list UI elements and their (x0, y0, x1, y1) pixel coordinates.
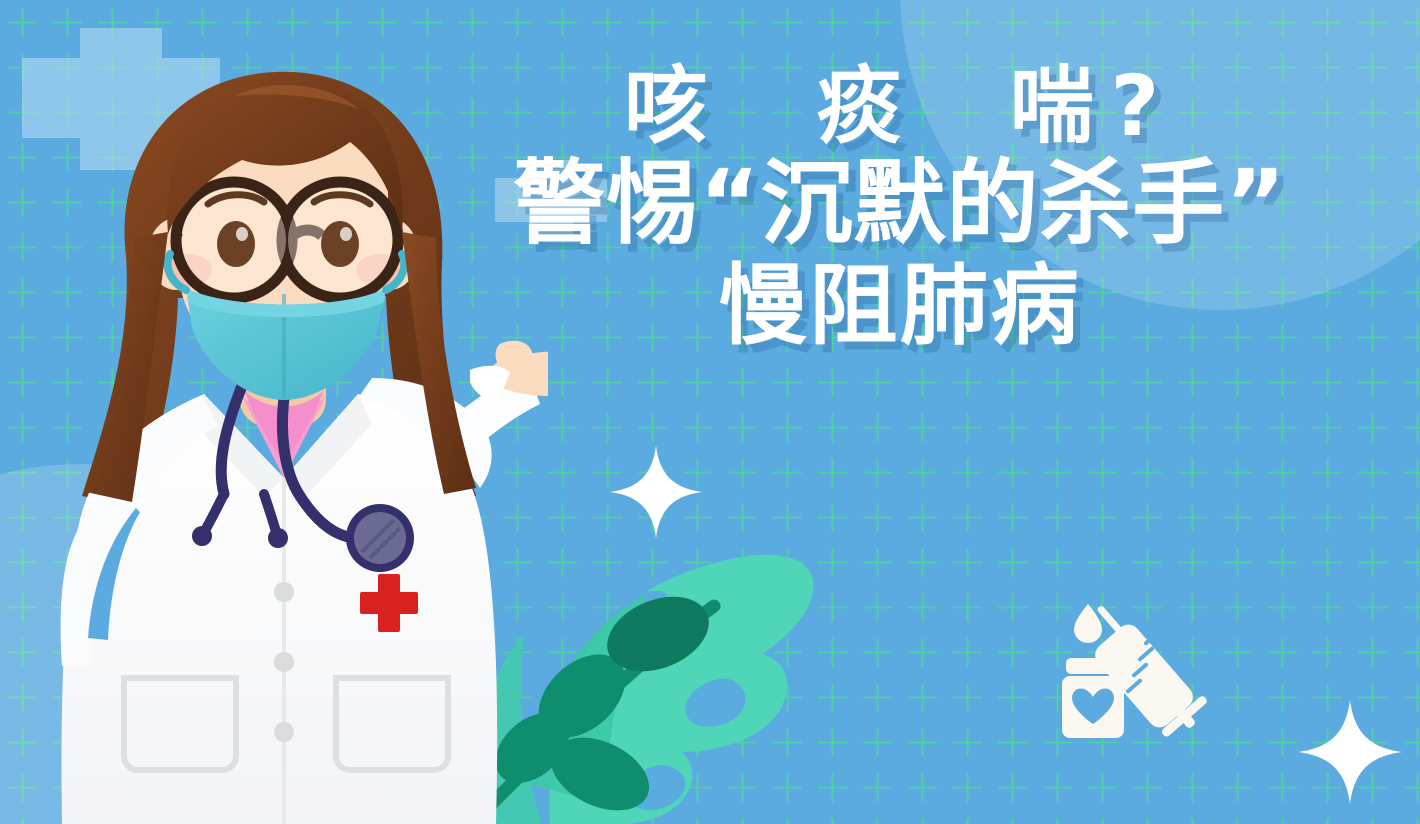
sparkle-star-right-icon (1296, 698, 1404, 806)
syringe-vaccine-icon (1052, 596, 1242, 746)
female-doctor-illustration (28, 26, 548, 824)
sparkle-star-left-icon (608, 444, 704, 540)
poster-canvas: 咳 痰 喘? 警惕“沉默的杀手” 慢阻肺病 (0, 0, 1420, 824)
